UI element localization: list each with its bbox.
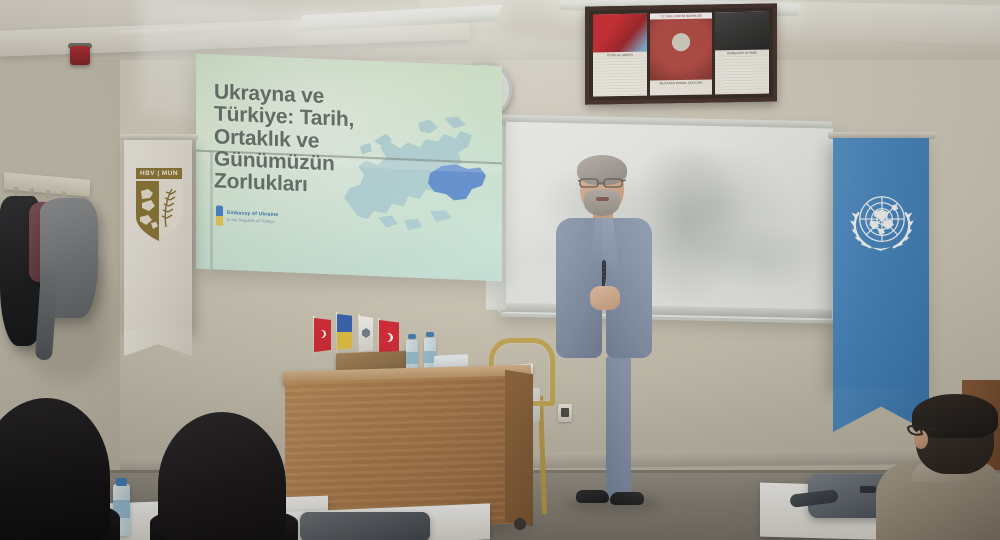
poster-text-block	[593, 57, 647, 96]
speaker-clasped-hands	[590, 286, 620, 310]
poster-panel-title: MUSTAFA KEMAL ATATÜRK	[650, 79, 712, 86]
embassy-logo-text: Embassy of Ukraine in the Republic of Tü…	[227, 210, 278, 224]
backpack-buckle	[860, 486, 876, 493]
embassy-logo: Embassy of Ukraine in the Republic of Tü…	[216, 204, 308, 230]
poster-panel-genclige-hitabe: GENÇLİĞE HİTABE	[715, 11, 769, 94]
poster-text-block	[715, 55, 769, 94]
ukraine-flag-mark-icon	[216, 205, 223, 225]
desk-caster-wheel	[514, 518, 526, 530]
fire-alarm-bell-icon	[70, 46, 90, 65]
un-flag-banner	[833, 138, 929, 390]
eyeglasses-icon	[906, 424, 940, 438]
presenter-desk-side	[505, 370, 533, 526]
hbv-mun-label-text: HBV | MUN	[140, 170, 178, 177]
board-left-edge	[210, 150, 213, 269]
projected-slide: Ukrayna ve Türkiye: Tarih, Ortaklık ve G…	[196, 54, 502, 282]
speaker-trouser-leg	[582, 356, 606, 498]
coat-hook-icon	[46, 190, 50, 199]
ukrainian-flag-icon	[337, 314, 352, 350]
bottle-cap	[116, 478, 127, 486]
bottle-cap	[426, 332, 434, 337]
speaker-trouser-leg	[606, 356, 631, 498]
ataturk-portrait-image	[650, 18, 712, 80]
un-emblem-icon	[845, 188, 919, 262]
speaker-mouth	[596, 197, 609, 201]
poster-panel-istiklal-marsi: İSTİKLAL MARŞI	[593, 14, 647, 97]
coat-hook-icon	[14, 187, 18, 196]
turkish-flag-icon	[314, 318, 331, 352]
embassy-logo-line2: in the Republic of Türkiye	[227, 217, 278, 224]
hbv-mun-crest-icon	[134, 179, 184, 243]
ataturk-photo-image	[715, 11, 769, 50]
speaker-shoe	[576, 490, 609, 503]
school-flag-icon	[359, 316, 373, 352]
speaker-beard	[584, 190, 620, 216]
desk-flag-turkiye	[313, 316, 329, 376]
speaker-person	[548, 160, 658, 530]
framed-wall-poster: İSTİKLAL MARŞI T.C. MİLLİ EĞİTİM BAKANLI…	[585, 3, 777, 104]
student-bag	[300, 512, 430, 540]
slide-title: Ukrayna ve Türkiye: Tarih, Ortaklık ve G…	[214, 81, 444, 202]
classroom-presentation-photo: İSTİKLAL MARŞI T.C. MİLLİ EĞİTİM BAKANLI…	[0, 0, 1000, 540]
hbv-mun-label: HBV | MUN	[136, 168, 182, 179]
poster-panel-ataturk: T.C. MİLLİ EĞİTİM BAKANLIĞI MUSTAFA KEMA…	[650, 12, 712, 95]
speaker-shoe	[610, 492, 644, 505]
bottle-label	[406, 352, 418, 364]
bottle-cap	[408, 334, 416, 339]
turkish-flag-image	[593, 14, 647, 53]
eyeglasses-icon	[578, 177, 626, 189]
